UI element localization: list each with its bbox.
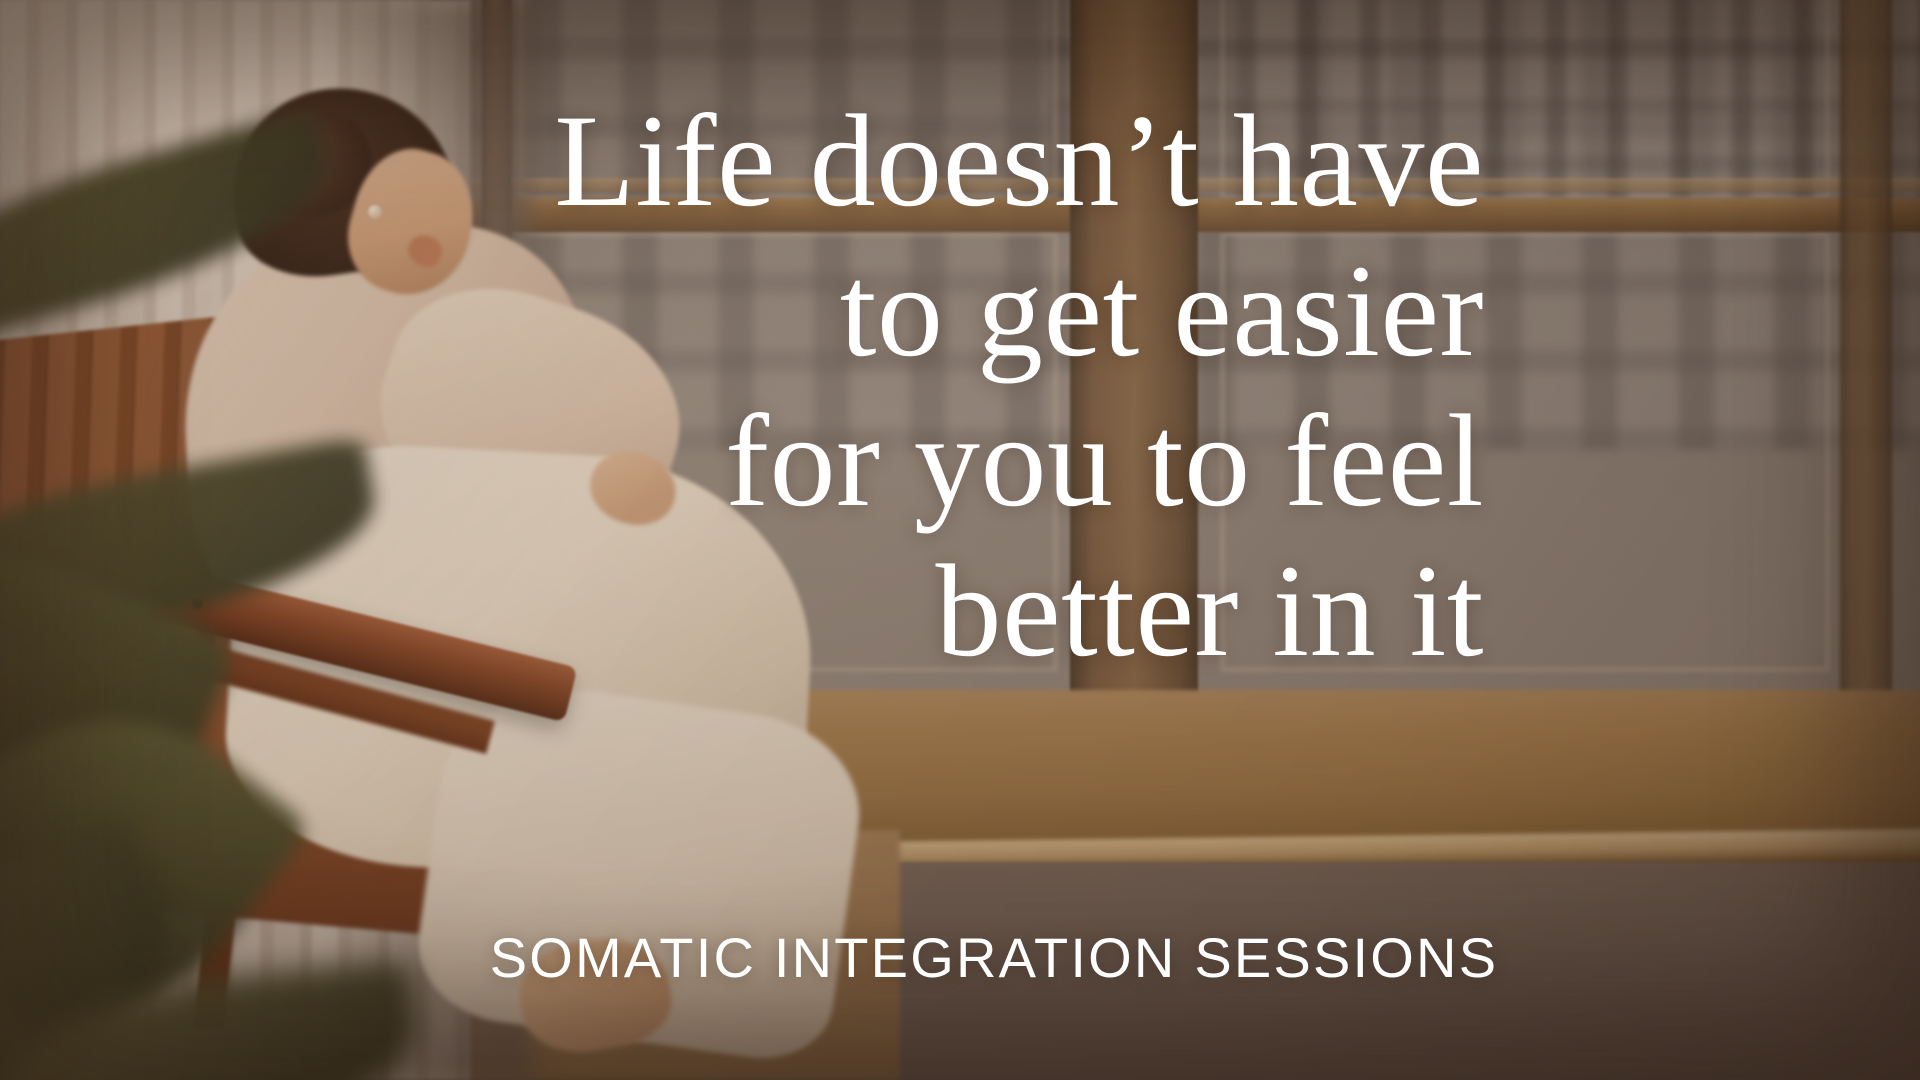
background-photo [0,0,1920,1080]
vignette-overlay [0,0,1920,1080]
poster-canvas: Life doesn’t have to get easier for you … [0,0,1920,1080]
